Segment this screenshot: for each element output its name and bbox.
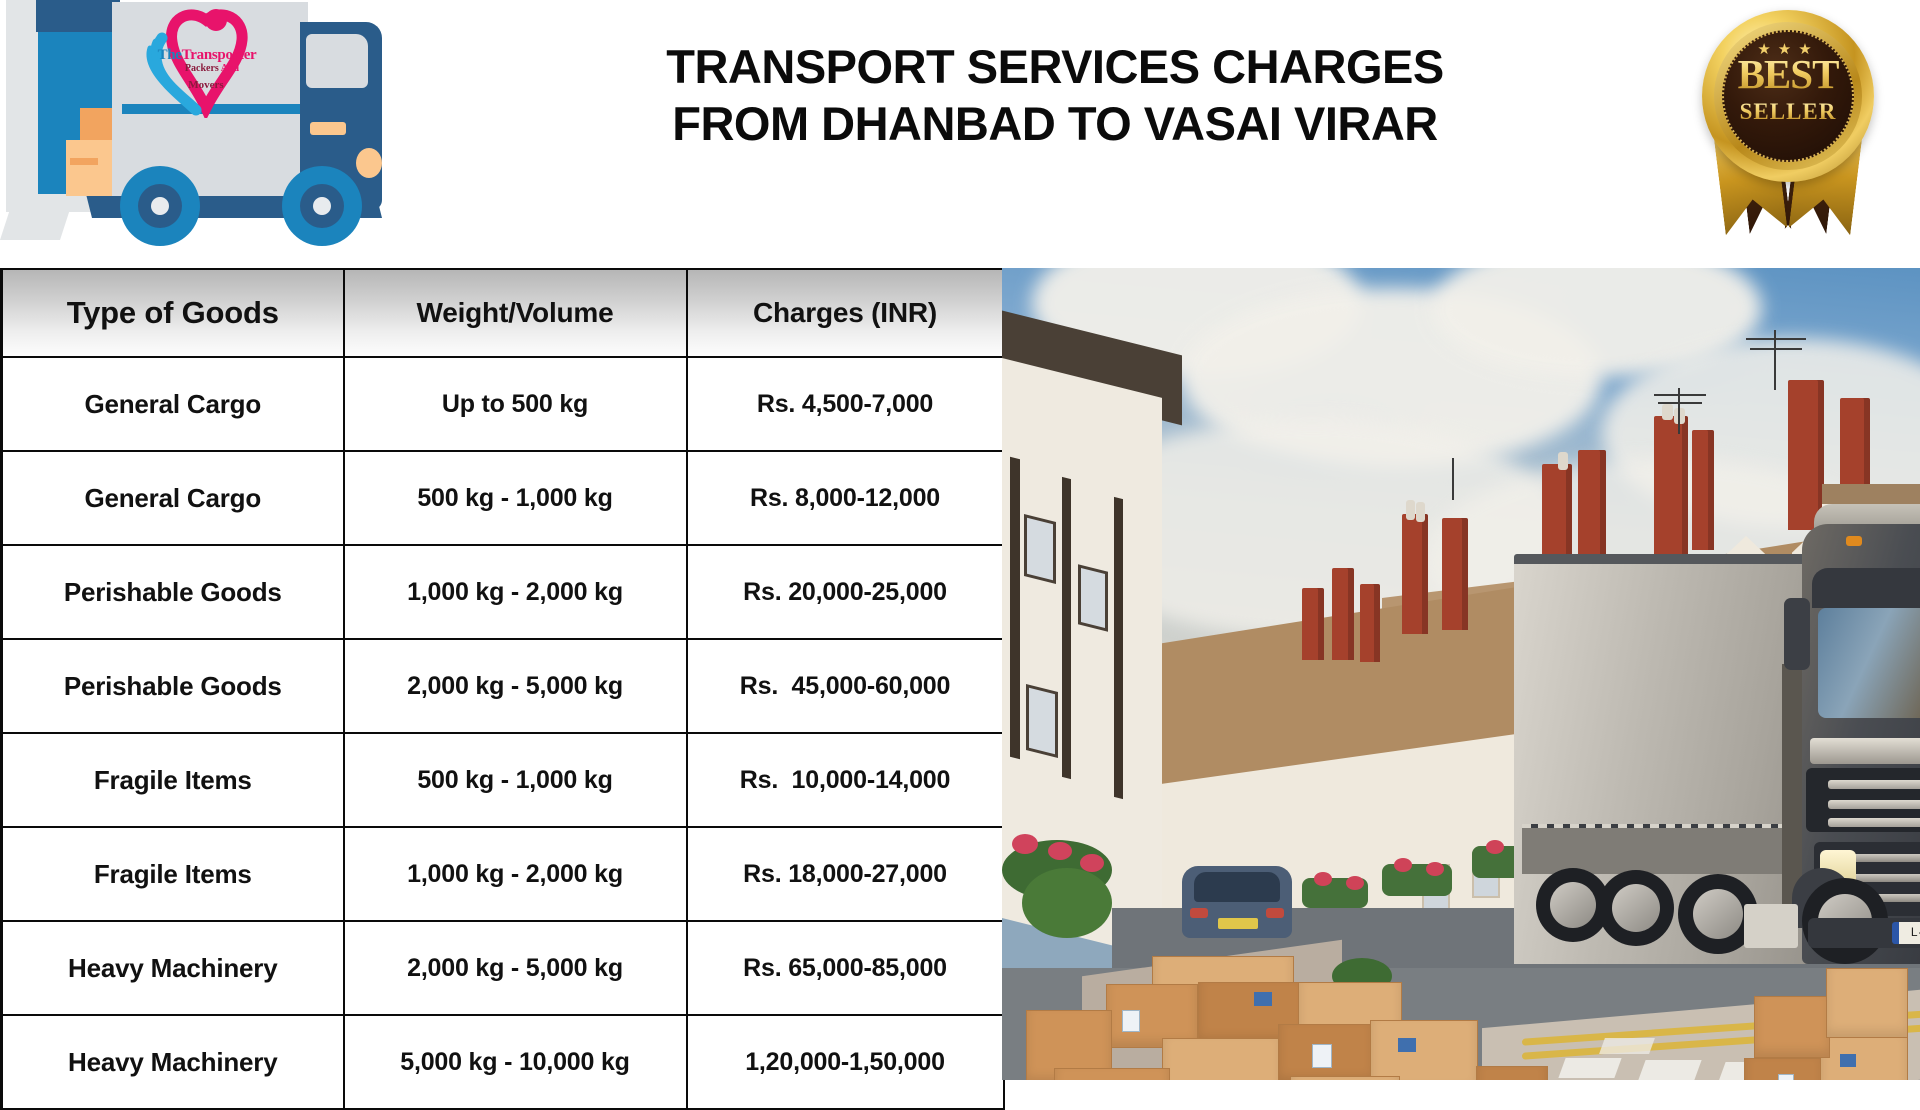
chimney-pot xyxy=(1406,500,1415,520)
logo-word-the: The xyxy=(158,47,182,63)
table-row: Heavy Machinery 2,000 kg - 5,000 kg Rs. … xyxy=(2,921,1004,1015)
badge-label-best: BEST xyxy=(1722,54,1854,95)
tv-antenna-mast xyxy=(1452,458,1454,500)
chimney xyxy=(1402,514,1428,634)
badge-label-seller: SELLER xyxy=(1722,100,1854,123)
logo-word-movers: Movers xyxy=(148,80,264,91)
cell-charges: Rs. 18,000-27,000 xyxy=(687,827,1004,921)
best-seller-badge: ★★★ BEST SELLER xyxy=(1690,4,1886,236)
column-header-charges: Charges (INR) xyxy=(687,269,1004,357)
logo-word-transporter: Transporter xyxy=(182,47,257,63)
cardboard-box xyxy=(1054,1068,1170,1080)
cargo-box-tape xyxy=(70,158,98,165)
chimney xyxy=(1788,380,1824,530)
cardboard-box xyxy=(1754,996,1830,1058)
cardboard-box xyxy=(1476,1066,1548,1080)
cell-charges: Rs. 45,000-60,000 xyxy=(687,639,1004,733)
charges-table-container: Type of Goods Weight/Volume Charges (INR… xyxy=(0,268,1002,1080)
cab-step xyxy=(1744,904,1798,948)
table-head: Type of Goods Weight/Volume Charges (INR… xyxy=(2,269,1004,357)
table-row: General Cargo 500 kg - 1,000 kg Rs. 8,00… xyxy=(2,451,1004,545)
truck-side-marker xyxy=(310,122,346,135)
chimney xyxy=(1654,416,1688,566)
title-line-1: TRANSPORT SERVICES CHARGES xyxy=(470,38,1640,95)
warehouse-door-header xyxy=(36,0,120,32)
logo-word-packers: Packers xyxy=(185,63,221,74)
shipping-label xyxy=(1254,992,1272,1006)
cell-goods: Heavy Machinery xyxy=(2,1015,344,1109)
cardboard-box xyxy=(1290,1076,1400,1080)
zebra-crossing-stripe xyxy=(1638,1060,1701,1080)
column-header-weight-volume: Weight/Volume xyxy=(344,269,687,357)
table-row: Fragile Items 500 kg - 1,000 kg Rs. 10,0… xyxy=(2,733,1004,827)
table-header-row: Type of Goods Weight/Volume Charges (INR… xyxy=(2,269,1004,357)
grille-bar xyxy=(1828,780,1920,789)
cell-goods: Heavy Machinery xyxy=(2,921,344,1015)
cardboard-box xyxy=(1370,1020,1478,1080)
table-row: Fragile Items 1,000 kg - 2,000 kg Rs. 18… xyxy=(2,827,1004,921)
zebra-crossing-stripe xyxy=(1558,1058,1621,1078)
cab-wing-mirror-left xyxy=(1784,598,1810,670)
cell-goods: Fragile Items xyxy=(2,827,344,921)
cell-weight: 500 kg - 1,000 kg xyxy=(344,451,687,545)
tv-antenna-bar xyxy=(1658,402,1702,404)
car-number-plate xyxy=(1218,918,1258,929)
cell-weight: 500 kg - 1,000 kg xyxy=(344,733,687,827)
window xyxy=(1026,684,1058,758)
table-row: Heavy Machinery 5,000 kg - 10,000 kg 1,2… xyxy=(2,1015,1004,1109)
cell-charges: Rs. 10,000-14,000 xyxy=(687,733,1004,827)
grille-bar xyxy=(1828,800,1920,809)
page-title: TRANSPORT SERVICES CHARGES FROM DHANBAD … xyxy=(470,38,1640,153)
cardboard-box xyxy=(1826,968,1908,1038)
chimney-pot xyxy=(1662,404,1673,420)
table-row: Perishable Goods 2,000 kg - 5,000 kg Rs.… xyxy=(2,639,1004,733)
charges-table: Type of Goods Weight/Volume Charges (INR… xyxy=(0,268,1005,1110)
cell-weight: 1,000 kg - 2,000 kg xyxy=(344,827,687,921)
flower-cluster xyxy=(1314,872,1332,886)
shipping-label xyxy=(1312,1044,1332,1068)
timber-beam xyxy=(1062,477,1071,779)
flower-cluster xyxy=(1394,858,1412,872)
cell-weight: 2,000 kg - 5,000 kg xyxy=(344,921,687,1015)
cell-charges: Rs. 8,000-12,000 xyxy=(687,451,1004,545)
window xyxy=(1024,514,1056,584)
timber-beam xyxy=(1114,497,1123,799)
cab-marker-light xyxy=(1846,536,1862,546)
tv-antenna-bar xyxy=(1746,338,1806,340)
timber-beam xyxy=(1010,457,1020,759)
cell-goods: Fragile Items xyxy=(2,733,344,827)
chimney xyxy=(1442,518,1468,630)
delivery-truck-illustration: TheTransporter Packers And Movers xyxy=(0,0,470,240)
table-row: Perishable Goods 1,000 kg - 2,000 kg Rs.… xyxy=(2,545,1004,639)
cab-windscreen xyxy=(1818,608,1920,718)
flower-cluster xyxy=(1346,876,1364,890)
chimney xyxy=(1302,588,1324,660)
logo-wordmark: TheTransporter xyxy=(142,48,272,63)
title-line-2: FROM DHANBAD TO VASAI VIRAR xyxy=(470,95,1640,152)
cell-charges: 1,20,000-1,50,000 xyxy=(687,1015,1004,1109)
trailer-wheel xyxy=(1598,870,1674,946)
cell-goods: General Cargo xyxy=(2,357,344,451)
flower-cluster xyxy=(1486,840,1504,854)
chimney xyxy=(1360,584,1380,662)
flower-cluster xyxy=(1012,834,1038,854)
cell-goods: General Cargo xyxy=(2,451,344,545)
chimney xyxy=(1332,568,1354,660)
car-tail-light xyxy=(1266,908,1284,918)
chimney-pot xyxy=(1416,502,1425,522)
company-logo: TheTransporter Packers And Movers xyxy=(128,8,278,118)
truck-headlight xyxy=(356,148,382,178)
flower-cluster xyxy=(1048,842,1072,860)
chimney-pot xyxy=(1558,452,1568,470)
road-marking xyxy=(1599,1038,1655,1054)
shipping-label xyxy=(1840,1054,1856,1067)
truck-wheel-rear xyxy=(120,166,200,246)
cell-weight: Up to 500 kg xyxy=(344,357,687,451)
shipping-label xyxy=(1398,1038,1416,1052)
flower-cluster xyxy=(1080,854,1104,872)
logo-subline: Packers And xyxy=(152,64,272,74)
car-rear-window xyxy=(1194,872,1280,902)
hanging-foliage xyxy=(1022,868,1112,938)
cell-charges: Rs. 65,000-85,000 xyxy=(687,921,1004,1015)
cardboard-box xyxy=(1820,1036,1908,1080)
cab-sun-visor xyxy=(1812,568,1920,608)
lorry-number-plate: L-1701 xyxy=(1892,922,1920,944)
cell-charges: Rs. 20,000-25,000 xyxy=(687,545,1004,639)
cell-weight: 1,000 kg - 2,000 kg xyxy=(344,545,687,639)
shipping-label xyxy=(1778,1074,1794,1080)
tv-antenna-bar xyxy=(1654,394,1706,396)
truck-wheel-front xyxy=(282,166,362,246)
column-header-type-of-goods: Type of Goods xyxy=(2,269,344,357)
trailer-skirt xyxy=(1522,828,1822,874)
window xyxy=(1078,564,1108,631)
logo-word-and: And xyxy=(221,63,239,74)
flower-cluster xyxy=(1426,862,1444,876)
cell-weight: 5,000 kg - 10,000 kg xyxy=(344,1015,687,1109)
tv-antenna-bar xyxy=(1750,348,1802,350)
car-tail-light xyxy=(1190,908,1208,918)
cab-chrome-strip xyxy=(1810,738,1920,764)
table-row: General Cargo Up to 500 kg Rs. 4,500-7,0… xyxy=(2,357,1004,451)
shipping-label xyxy=(1122,1010,1140,1032)
chimney xyxy=(1692,430,1714,550)
cell-goods: Perishable Goods xyxy=(2,545,344,639)
truck-cab-window xyxy=(306,34,368,88)
header-band: TheTransporter Packers And Movers TRANSP… xyxy=(0,0,1920,268)
street-scene-photo: ✦ L- xyxy=(1002,268,1920,1080)
cell-weight: 2,000 kg - 5,000 kg xyxy=(344,639,687,733)
cell-goods: Perishable Goods xyxy=(2,639,344,733)
grille-bar xyxy=(1828,818,1920,827)
infographic-page: TheTransporter Packers And Movers TRANSP… xyxy=(0,0,1920,1080)
cardboard-box xyxy=(1162,1038,1282,1080)
cell-charges: Rs. 4,500-7,000 xyxy=(687,357,1004,451)
table-body: General Cargo Up to 500 kg Rs. 4,500-7,0… xyxy=(2,357,1004,1109)
